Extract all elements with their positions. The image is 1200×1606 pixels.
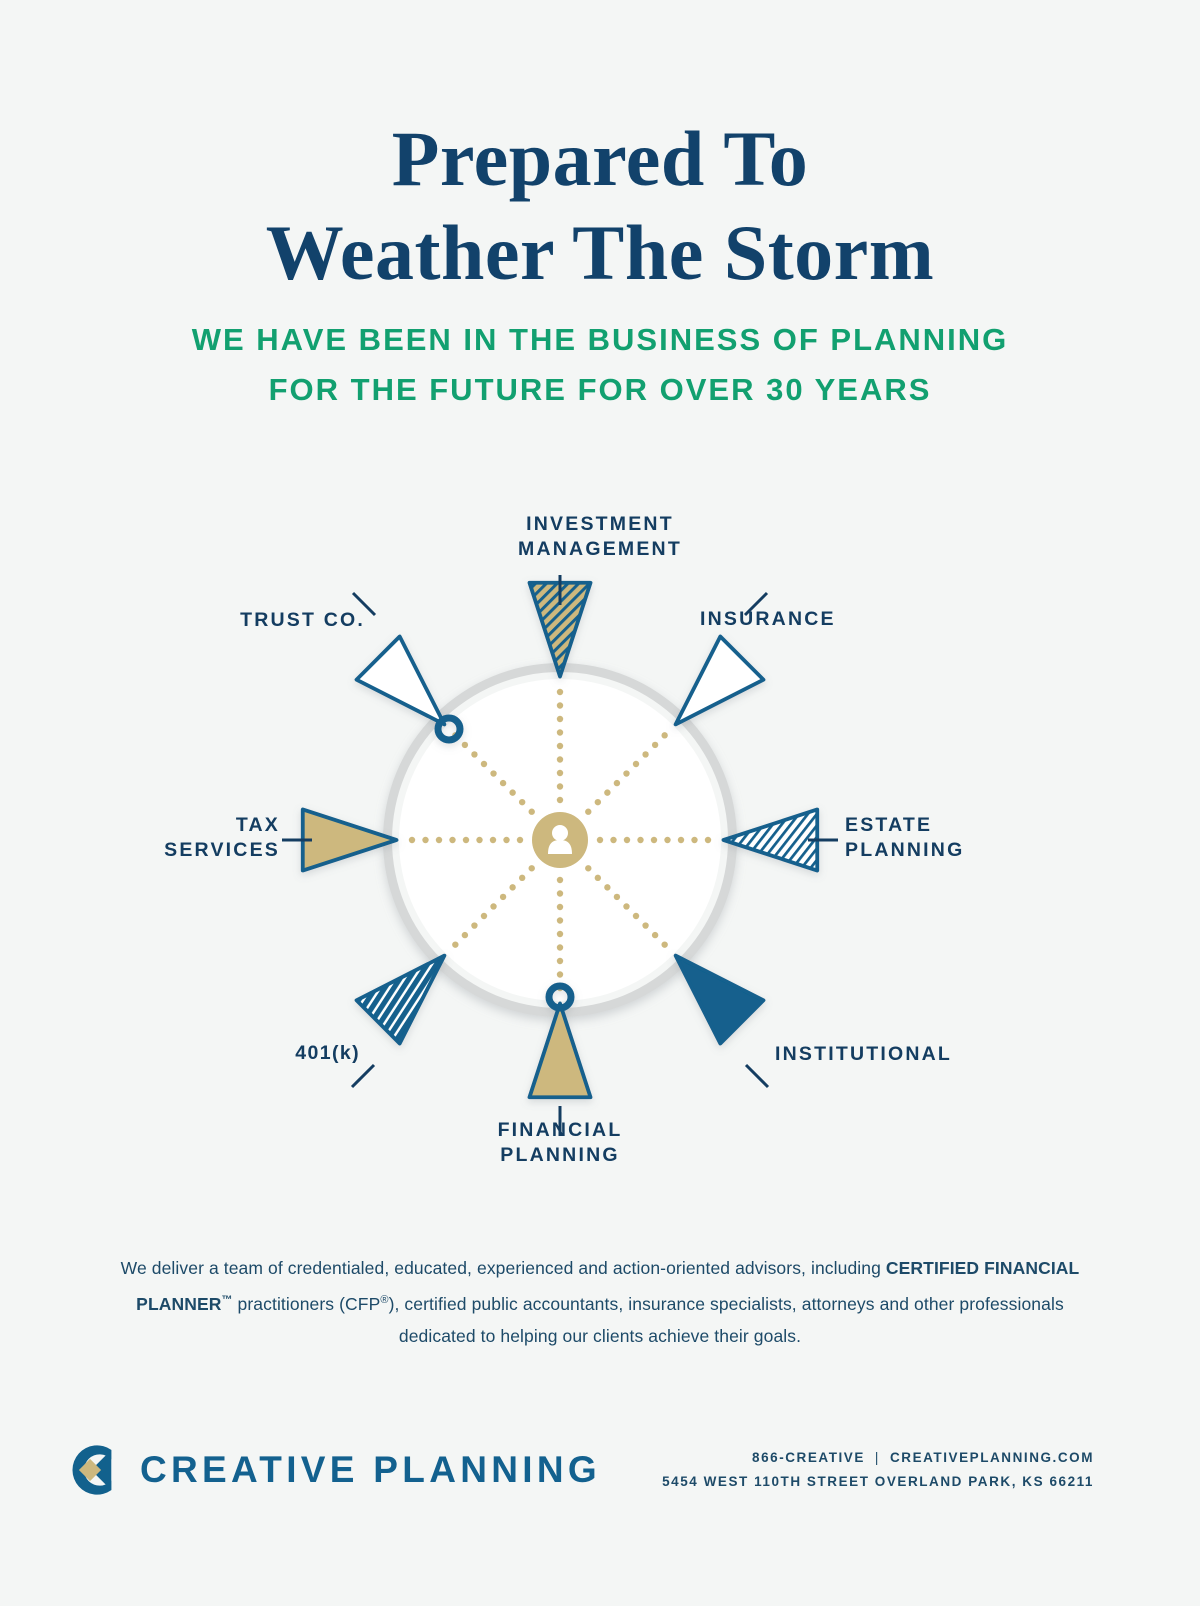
- footer: CREATIVE PLANNING 866-CREATIVE|CREATIVEP…: [0, 1430, 1200, 1550]
- segment-estate-planning[interactable]: [724, 809, 818, 870]
- contact-separator: |: [865, 1450, 890, 1465]
- page-subtitle: WE HAVE BEEN IN THE BUSINESS OF PLANNING…: [0, 315, 1200, 415]
- contact-line-1: 866-CREATIVE|CREATIVEPLANNING.COM: [662, 1446, 1094, 1470]
- brand-logo[interactable]: CREATIVE PLANNING: [62, 1442, 601, 1498]
- label-investment-management: INVESTMENT MANAGEMENT: [0, 512, 1200, 562]
- label-401k: 401(k): [180, 1041, 360, 1066]
- subhead-line-1: WE HAVE BEEN IN THE BUSINESS OF PLANNING: [192, 322, 1009, 357]
- center-person-badge: [532, 812, 588, 868]
- label-tax-services: TAX SERVICES: [60, 813, 280, 863]
- label-financial-planning: FINANCIAL PLANNING: [300, 1118, 820, 1168]
- trademark-symbol: ™: [221, 1294, 232, 1306]
- services-wheel-diagram: [275, 470, 925, 1210]
- label-trust-co: TRUST CO.: [60, 608, 365, 633]
- infographic-page: Prepared To Weather The Storm WE HAVE BE…: [0, 0, 1200, 1606]
- address-line: 5454 WEST 110TH STREET OVERLAND PARK, KS…: [662, 1470, 1094, 1494]
- leader-line-401k: [352, 1065, 374, 1087]
- registered-symbol: ®: [380, 1294, 388, 1306]
- page-title: Prepared To Weather The Storm: [0, 112, 1200, 300]
- body-text-part-2: practitioners (CFP: [233, 1294, 381, 1314]
- body-text-part-3: ), certified public accountants, insuran…: [389, 1294, 1064, 1346]
- headline-line-2: Weather The Storm: [0, 206, 1200, 300]
- brand-logo-text: CREATIVE PLANNING: [140, 1449, 601, 1491]
- label-insurance: INSURANCE: [700, 607, 1000, 632]
- body-paragraph: We deliver a team of credentialed, educa…: [100, 1252, 1100, 1352]
- contact-info: 866-CREATIVE|CREATIVEPLANNING.COM 5454 W…: [662, 1446, 1094, 1494]
- creative-planning-c-diamond-logo-icon: [62, 1442, 118, 1498]
- segment-tax-services[interactable]: [303, 809, 397, 870]
- website-url[interactable]: CREATIVEPLANNING.COM: [890, 1450, 1094, 1465]
- label-institutional: INSTITUTIONAL: [775, 1042, 1105, 1067]
- phone-number[interactable]: 866-CREATIVE: [752, 1450, 865, 1465]
- body-text-part-1: We deliver a team of credentialed, educa…: [121, 1258, 886, 1278]
- label-estate-planning: ESTATE PLANNING: [845, 813, 1145, 863]
- leader-line-institutional: [746, 1065, 768, 1087]
- headline-line-1: Prepared To: [392, 115, 809, 202]
- subhead-line-2: FOR THE FUTURE FOR OVER 30 YEARS: [0, 365, 1200, 415]
